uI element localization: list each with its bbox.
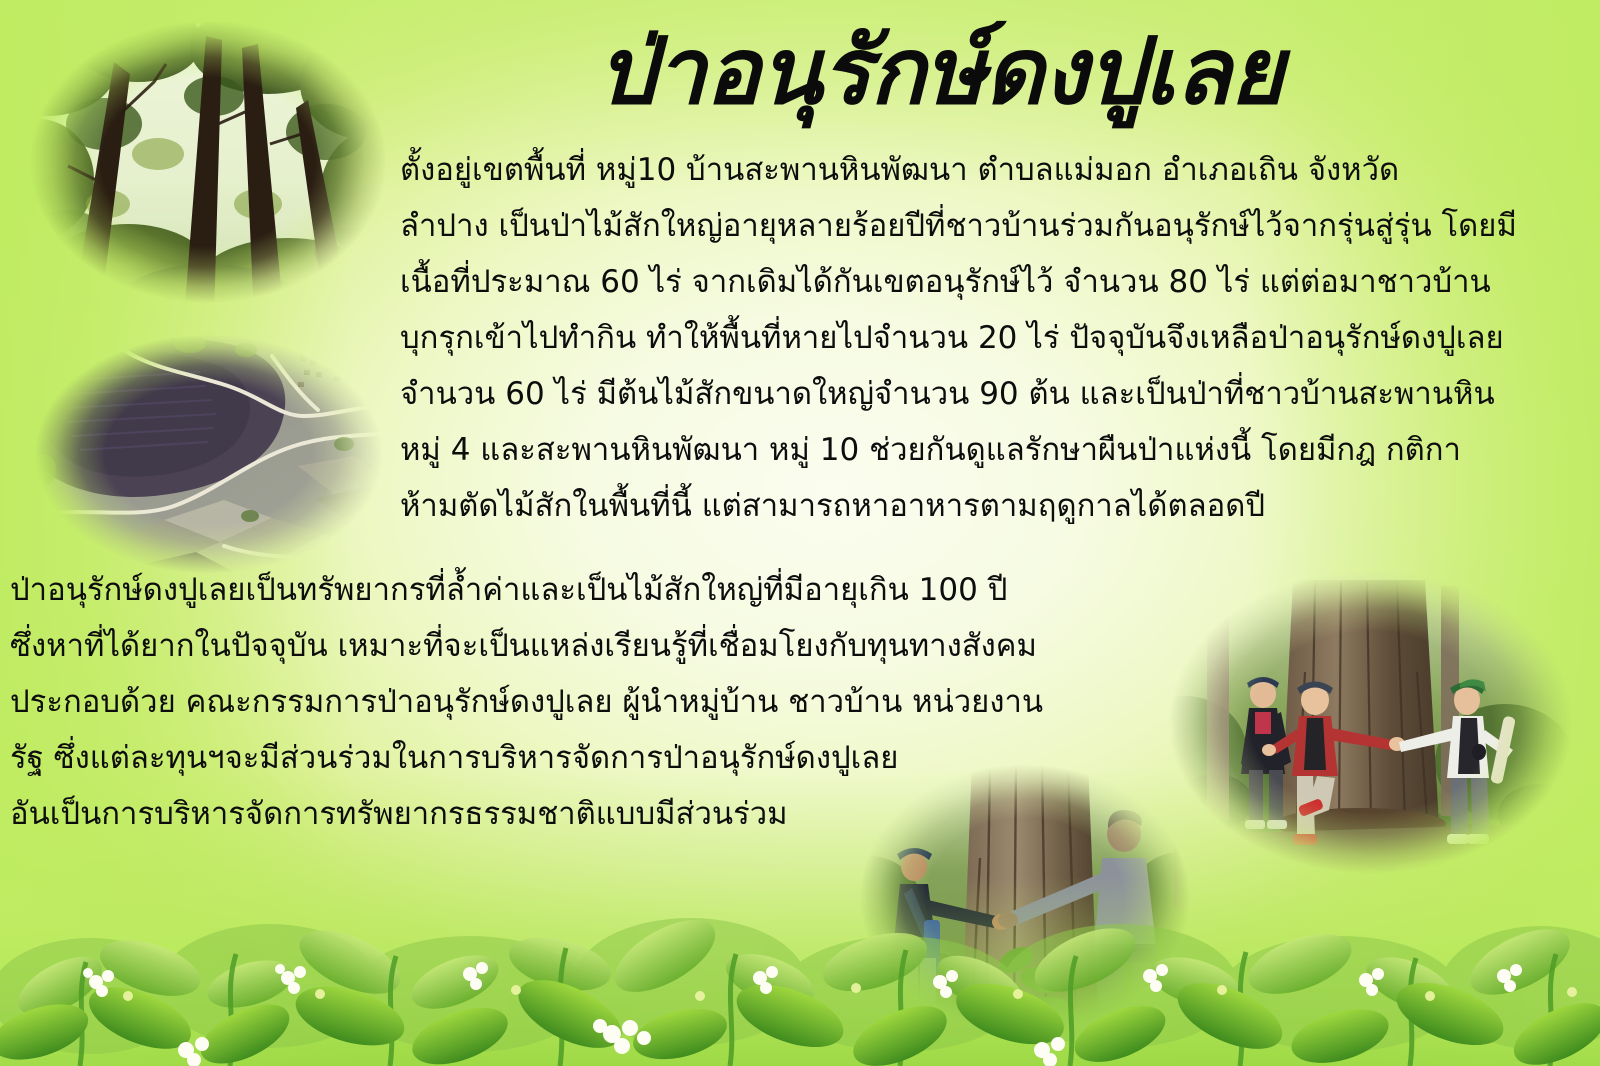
people-with-teak-tree-illustration	[1145, 552, 1597, 892]
forest-canopy-illustration	[8, 4, 408, 320]
page-title: ป่าอนุรักษ์ดงปูเลย	[430, 18, 1450, 127]
photo-aerial-map	[14, 320, 404, 588]
photo-group-with-teak-tree-inner	[1145, 552, 1597, 892]
photo-forest-canopy	[8, 4, 408, 320]
paragraph-two-line: อันเป็นการบริหารจัดการทรัพยากรธรรมชาติแบ…	[10, 799, 1130, 830]
paragraph-one-line: เนื้อที่ประมาณ 60 ไร่ จากเดิมได้กันเขตอน…	[400, 267, 1590, 298]
poster-canvas: ป่าอนุรักษ์ดงปูเลย ตั้งอยู่เขตพื้นที่ หม…	[0, 0, 1600, 1066]
photo-aerial-map-inner	[14, 320, 404, 588]
paragraph-one-line: ลำปาง เป็นป่าไม้สักใหญ่อายุหลายร้อยปีที่…	[400, 211, 1590, 242]
paragraph-location-and-area: ตั้งอยู่เขตพื้นที่ หมู่10 บ้านสะพานหินพั…	[400, 155, 1590, 547]
paragraph-one-line: ห้ามตัดไม้สักในพื้นที่นี้ แต่สามารถหาอาห…	[400, 491, 1590, 522]
paragraph-one-line: บุกรุกเข้าไปทำกิน ทำให้พื้นที่หายไปจำนวน…	[400, 323, 1590, 354]
photo-forest-canopy-inner	[8, 4, 408, 320]
paragraph-one-line: หมู่ 4 และสะพานหินพัฒนา หมู่ 10 ช่วยกันด…	[400, 435, 1590, 466]
satellite-map-illustration	[14, 320, 404, 588]
photo-group-with-teak-tree	[1145, 552, 1597, 892]
paragraph-two-line: รัฐ ซึ่งแต่ละทุนฯจะมีส่วนร่วมในการบริหาร…	[10, 743, 1130, 774]
paragraph-one-line: ตั้งอยู่เขตพื้นที่ หมู่10 บ้านสะพานหินพั…	[400, 155, 1590, 186]
paragraph-one-line: จำนวน 60 ไร่ มีต้นไม้สักขนาดใหญ่จำนวน 90…	[400, 379, 1590, 410]
paragraph-resource-and-management: ป่าอนุรักษ์ดงปูเลยเป็นทรัพยากรที่ล้ำค่าแ…	[10, 575, 1130, 855]
paragraph-two-line: ซึ่งหาที่ได้ยากในปัจจุบัน เหมาะที่จะเป็น…	[10, 631, 1130, 662]
paragraph-two-line: ป่าอนุรักษ์ดงปูเลยเป็นทรัพยากรที่ล้ำค่าแ…	[10, 575, 1130, 606]
paragraph-two-line: ประกอบด้วย คณะกรรมการป่าอนุรักษ์ดงปูเลย …	[10, 687, 1130, 718]
